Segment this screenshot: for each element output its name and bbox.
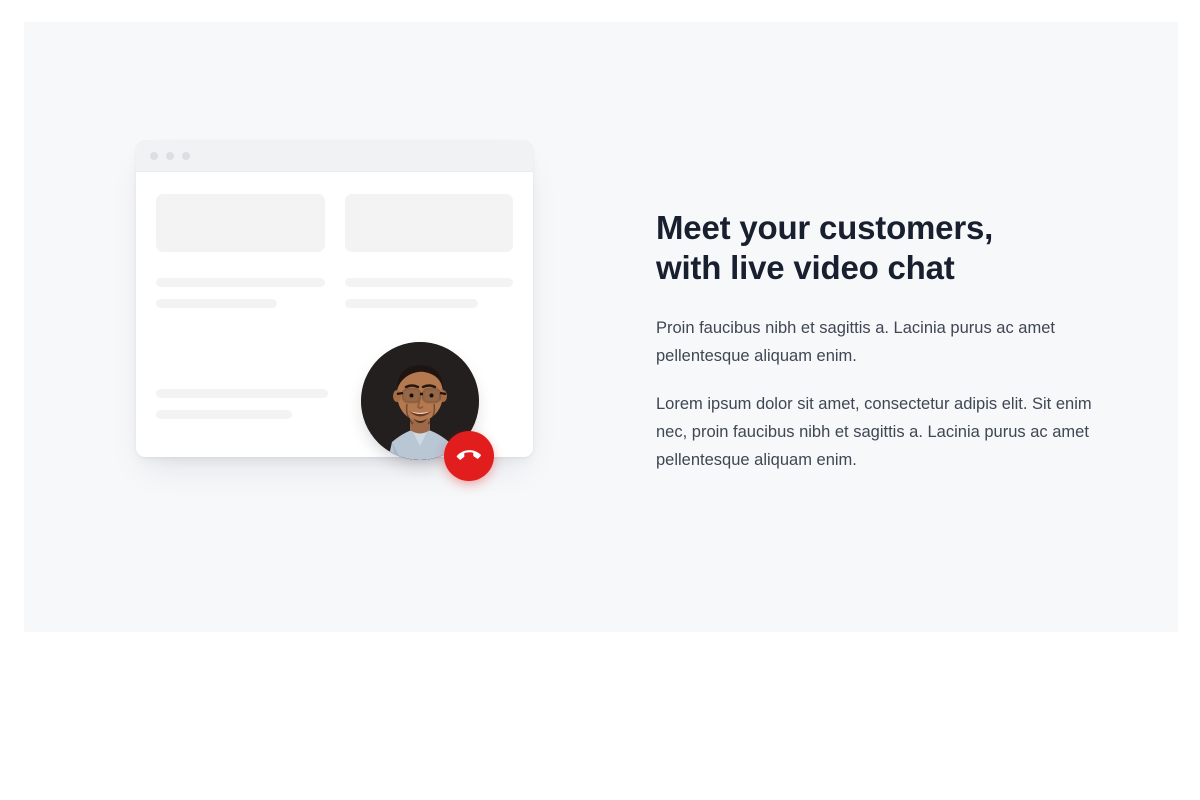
skeleton-card — [345, 194, 514, 252]
heading-line-2: with live video chat — [656, 249, 955, 286]
window-minimize-dot-icon — [166, 152, 174, 160]
skeleton-line — [345, 278, 514, 287]
skeleton-column-left — [156, 194, 325, 308]
hero-paragraph-2: Lorem ipsum dolor sit amet, consectetur … — [656, 390, 1126, 474]
window-close-dot-icon — [150, 152, 158, 160]
skeleton-line — [345, 299, 478, 308]
skeleton-card — [156, 194, 325, 252]
end-call-button[interactable] — [444, 431, 494, 481]
window-maximize-dot-icon — [182, 152, 190, 160]
skeleton-line — [156, 389, 328, 398]
skeleton-line — [156, 299, 277, 308]
skeleton-card-grid — [156, 194, 513, 308]
phone-hangup-icon — [452, 439, 486, 473]
page-title: Meet your customers, with live video cha… — [656, 208, 1136, 288]
page-root: Meet your customers, with live video cha… — [0, 0, 1200, 800]
video-chat-illustration — [112, 112, 532, 492]
hero-paragraph-1: Proin faucibus nibh et sagittis a. Lacin… — [656, 314, 1104, 370]
heading-line-1: Meet your customers, — [656, 209, 993, 246]
hero-copy: Meet your customers, with live video cha… — [656, 208, 1136, 474]
skeleton-footer-lines — [156, 389, 328, 419]
browser-titlebar — [136, 140, 533, 172]
skeleton-column-right — [345, 194, 514, 308]
skeleton-line — [156, 278, 325, 287]
hero-panel: Meet your customers, with live video cha… — [24, 22, 1178, 632]
skeleton-line — [156, 410, 292, 419]
